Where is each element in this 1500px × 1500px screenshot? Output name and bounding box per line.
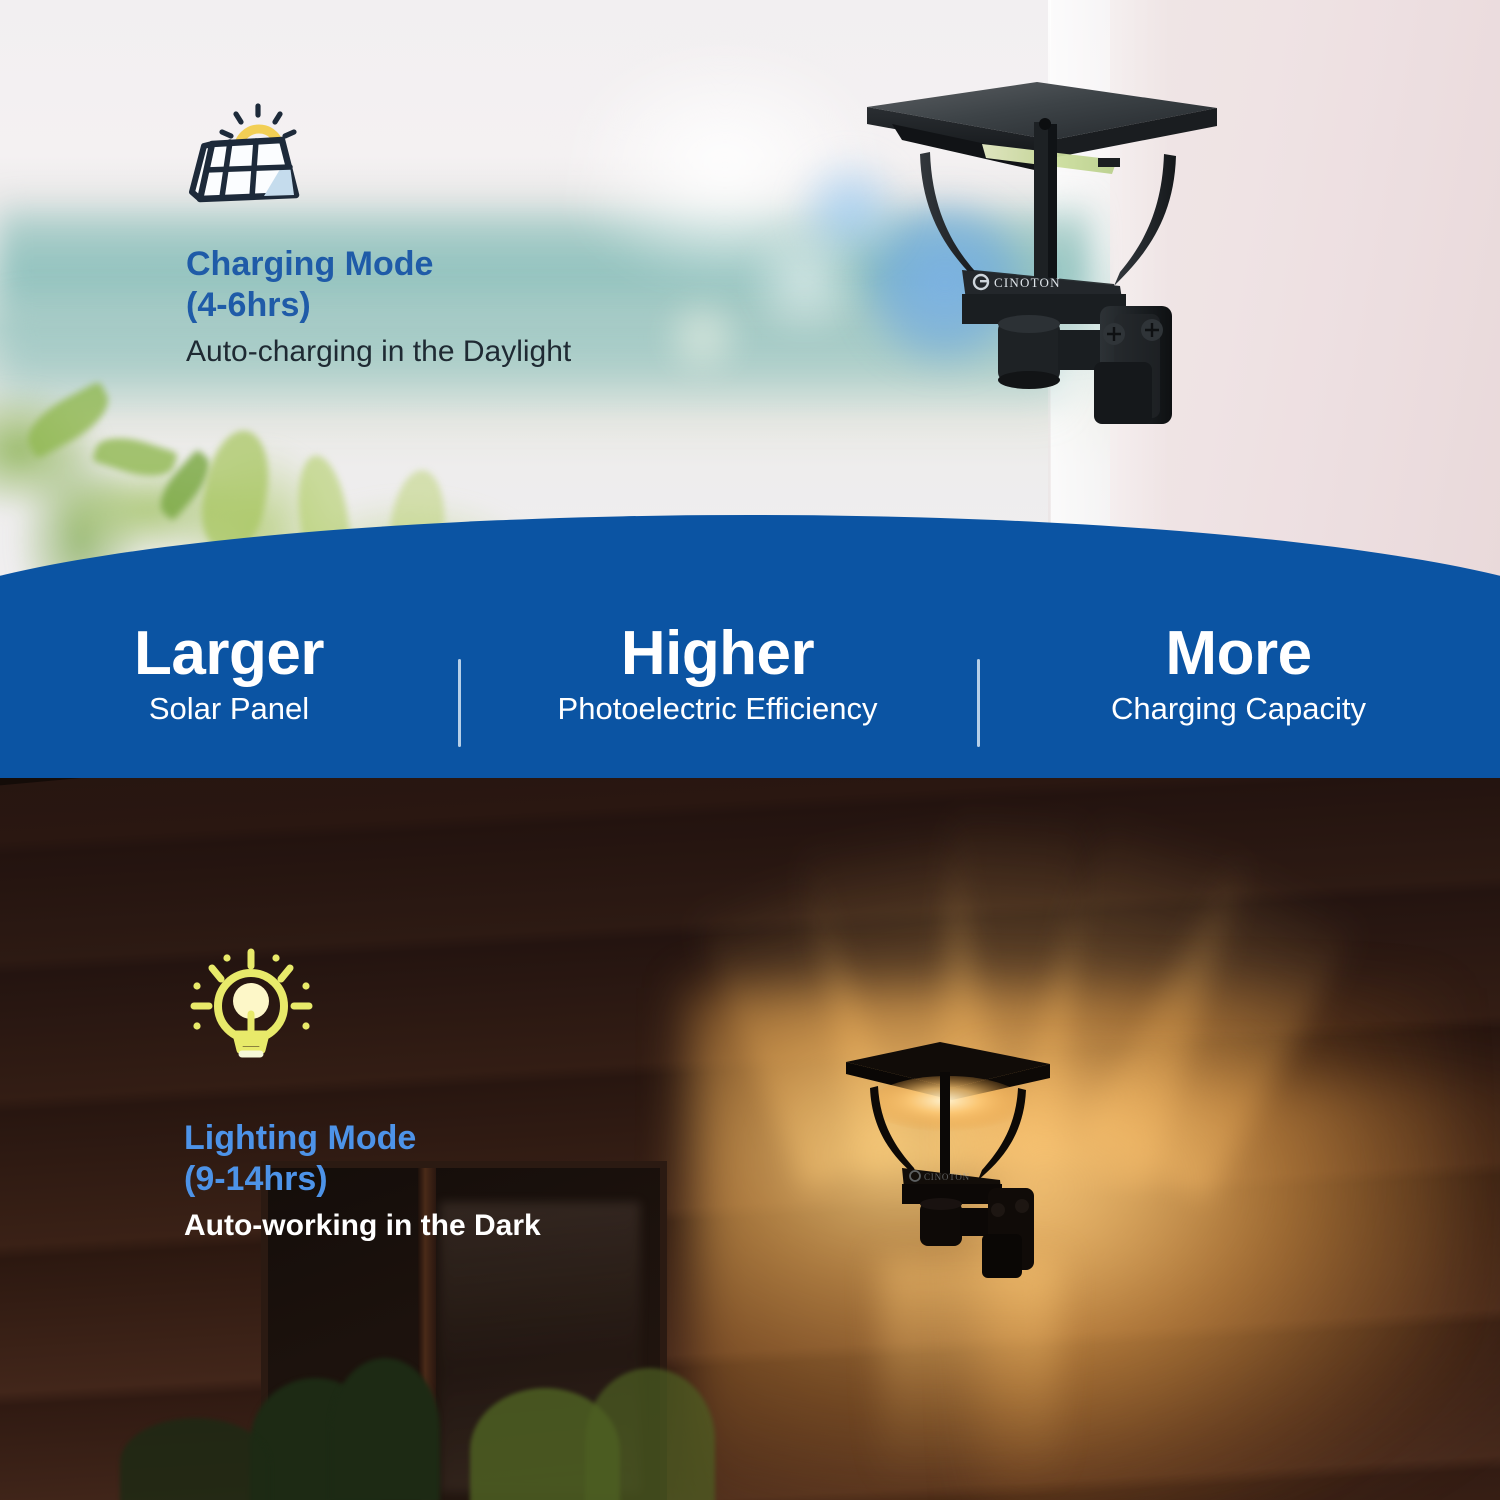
- light-bulb-icon: [184, 948, 804, 1078]
- mount-base: [1094, 362, 1152, 424]
- feature-headline: Higher: [458, 622, 977, 685]
- lighting-mode-title-line2: (9-14hrs): [184, 1159, 804, 1200]
- lamp-center-post-night: [940, 1072, 950, 1176]
- feature-headline: Larger: [0, 622, 458, 685]
- charging-mode-title-line1: Charging Mode: [186, 244, 806, 285]
- led-bracket: [1098, 158, 1120, 167]
- shrub: [330, 1358, 440, 1500]
- lighting-mode-block: Lighting Mode (9-14hrs) Auto-working in …: [184, 948, 804, 1245]
- lamp-center-post-shade: [1048, 124, 1057, 292]
- charging-mode-title-line2: (4-6hrs): [186, 285, 806, 326]
- lamp-arm-right: [1114, 154, 1176, 286]
- solar-lamp-daylight: CINOTON: [862, 62, 1222, 432]
- pir-sensor-bottom: [998, 371, 1060, 389]
- pir-sensor-top-night: [920, 1198, 962, 1210]
- night-scene-panel: CINOTON: [0, 778, 1500, 1500]
- feature-larger-solar-panel: Larger Solar Panel: [0, 622, 458, 729]
- feature-row: Larger Solar Panel Higher Photoelectric …: [0, 622, 1500, 729]
- mount-base-night: [982, 1234, 1022, 1278]
- lamp-illustration: CINOTON: [862, 62, 1222, 432]
- features-banner: Larger Solar Panel Higher Photoelectric …: [0, 500, 1500, 778]
- feature-higher-efficiency: Higher Photoelectric Efficiency: [458, 622, 977, 729]
- product-feature-infographic: CINOTON: [0, 0, 1500, 1500]
- mount-screw-left-night: [991, 1203, 1005, 1217]
- lamp-top-screw: [1039, 118, 1051, 130]
- charging-mode-block: Charging Mode (4-6hrs) Auto-charging in …: [186, 100, 806, 371]
- charging-mode-subtitle: Auto-charging in the Daylight: [186, 332, 806, 371]
- banner-content: Larger Solar Panel Higher Photoelectric …: [0, 500, 1500, 778]
- feature-divider-1: [458, 659, 461, 747]
- downward-light-spill: [880, 1258, 1060, 1488]
- feature-divider-2: [977, 659, 980, 747]
- mount-screw-right-night: [1015, 1199, 1029, 1213]
- feature-headline: More: [977, 622, 1500, 685]
- shrub: [120, 1418, 270, 1500]
- feature-caption: Solar Panel: [0, 690, 458, 729]
- lighting-mode-title-line1: Lighting Mode: [184, 1118, 804, 1159]
- lighting-mode-subtitle: Auto-working in the Dark: [184, 1206, 804, 1245]
- shrub-lit: [585, 1368, 715, 1500]
- feature-caption: Charging Capacity: [977, 690, 1500, 729]
- solar-lamp-night: CINOTON: [840, 1028, 1090, 1288]
- feature-more-capacity: More Charging Capacity: [977, 622, 1500, 729]
- brand-text-night: CINOTON: [924, 1172, 970, 1182]
- solar-panel-sun-icon: [186, 100, 806, 210]
- pir-sensor-top: [998, 315, 1060, 333]
- lamp-arm-left: [920, 152, 980, 284]
- lamp-illustration-night: CINOTON: [840, 1028, 1090, 1288]
- feature-caption: Photoelectric Efficiency: [458, 690, 977, 729]
- brand-text: CINOTON: [994, 275, 1061, 290]
